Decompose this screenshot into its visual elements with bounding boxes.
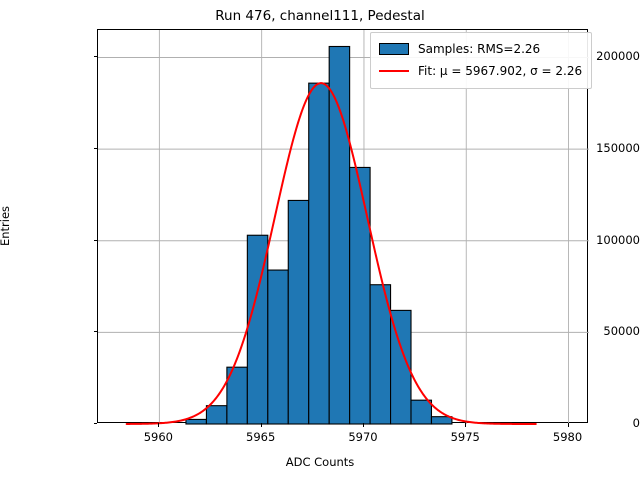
y-tick-label: 100000 xyxy=(552,233,640,247)
x-tick-label: 5980 xyxy=(553,430,582,444)
x-tick-mark xyxy=(465,423,466,427)
legend-item-samples: Samples: RMS=2.26 xyxy=(379,38,583,60)
x-tick-label: 5970 xyxy=(348,430,377,444)
x-axis-label: ADC Counts xyxy=(0,455,640,469)
x-tick-mark xyxy=(261,423,262,427)
legend-item-fit: Fit: μ = 5967.902, σ = 2.26 xyxy=(379,60,583,82)
line-swatch-icon xyxy=(379,70,409,72)
x-tick-label: 5960 xyxy=(144,430,173,444)
legend-label-fit: Fit: μ = 5967.902, σ = 2.26 xyxy=(418,64,582,78)
chart-legend: Samples: RMS=2.26 Fit: μ = 5967.902, σ =… xyxy=(370,32,592,89)
x-tick-mark xyxy=(363,423,364,427)
y-tick-mark xyxy=(94,148,98,149)
y-tick-label: 0 xyxy=(552,416,640,430)
y-tick-mark xyxy=(94,423,98,424)
x-tick-label: 5965 xyxy=(246,430,275,444)
y-tick-mark xyxy=(94,331,98,332)
y-axis-label: Entries xyxy=(0,206,12,246)
x-tick-mark xyxy=(158,423,159,427)
x-tick-label: 5975 xyxy=(451,430,480,444)
chart-title: Run 476, channel111, Pedestal xyxy=(0,8,640,24)
y-tick-label: 50000 xyxy=(552,324,640,338)
x-tick-mark xyxy=(568,423,569,427)
figure-canvas: Run 476, channel111, Pedestal 0500001000… xyxy=(0,0,640,480)
y-tick-mark xyxy=(94,240,98,241)
y-tick-mark xyxy=(94,56,98,57)
bar-swatch-icon xyxy=(379,43,409,55)
legend-label-samples: Samples: RMS=2.26 xyxy=(418,42,540,56)
y-tick-label: 150000 xyxy=(552,141,640,155)
